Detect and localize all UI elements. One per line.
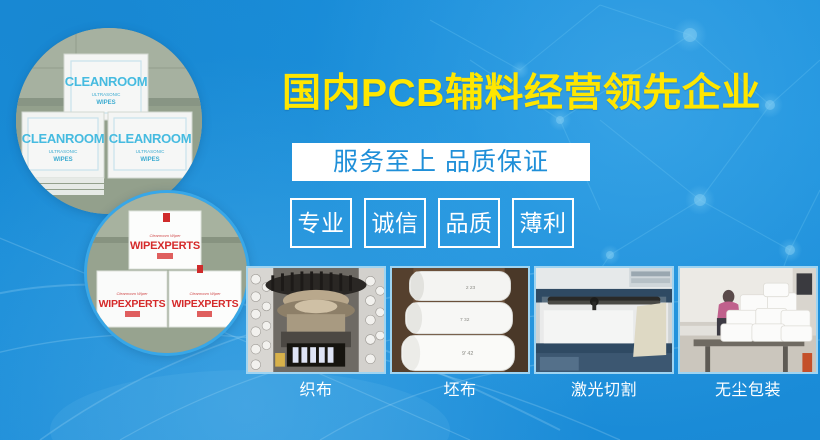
thumb-caption: 织布: [299, 383, 332, 399]
process-thumb-laser-cutting[interactable]: 激光切割: [534, 266, 674, 399]
product-photo-cleanroom: CLEANROOM ULTRASONIC WIPES CLEANROOM ULT…: [16, 28, 202, 214]
svg-text:Cleanroom Wiper: Cleanroom Wiper: [149, 233, 181, 238]
value-tag-quality[interactable]: 品质: [438, 198, 500, 248]
value-tag-low-margin[interactable]: 薄利: [512, 198, 574, 248]
svg-text:Cleanroom Wiper: Cleanroom Wiper: [116, 291, 148, 296]
laser-cutter-photo: [534, 266, 674, 374]
thumb-caption: 无尘包装: [715, 383, 781, 399]
banner-subtitle-bar: 服务至上 品质保证: [292, 143, 590, 181]
banner-headline: 国内PCB辅料经营领先企业: [282, 74, 761, 113]
value-tag-label: 薄利: [520, 212, 567, 235]
value-tag-integrity[interactable]: 诚信: [364, 198, 426, 248]
value-tag-row: 专业 诚信 品质 薄利: [290, 198, 574, 248]
product-photo-wipexperts: Cleanroom Wiper WIPEXPERTS Cleanroom Wip…: [84, 190, 250, 356]
process-thumbnail-strip: 织布 2 23: [246, 266, 818, 399]
svg-text:9' 42: 9' 42: [462, 351, 473, 357]
value-tag-label: 专业: [298, 212, 345, 235]
value-tag-label: 品质: [446, 212, 493, 235]
value-tag-professional[interactable]: 专业: [290, 198, 352, 248]
process-thumb-cleanroom-packing[interactable]: 无尘包装: [678, 266, 818, 399]
process-thumb-weaving[interactable]: 织布: [246, 266, 386, 399]
value-tag-label: 诚信: [372, 212, 419, 235]
svg-text:7 32: 7 32: [460, 317, 470, 323]
banner-subtitle-text: 服务至上 品质保证: [333, 150, 549, 175]
svg-text:WIPEXPERTS: WIPEXPERTS: [172, 298, 239, 310]
svg-text:WIPEXPERTS: WIPEXPERTS: [99, 298, 166, 310]
knitting-machine-photo: [246, 266, 386, 374]
cleanroom-packing-photo: [678, 266, 818, 374]
process-thumb-greige-fabric[interactable]: 2 23 7 32 9' 42 坯布: [390, 266, 530, 399]
svg-text:2 23: 2 23: [466, 285, 476, 291]
svg-text:WIPEXPERTS: WIPEXPERTS: [130, 240, 200, 252]
svg-text:Cleanroom Wiper: Cleanroom Wiper: [189, 291, 221, 296]
fabric-rolls-photo: 2 23 7 32 9' 42: [390, 266, 530, 374]
thumb-caption: 坯布: [443, 383, 476, 399]
thumb-caption: 激光切割: [571, 383, 637, 399]
promotional-banner: CLEANROOM ULTRASONIC WIPES CLEANROOM ULT…: [0, 0, 820, 440]
